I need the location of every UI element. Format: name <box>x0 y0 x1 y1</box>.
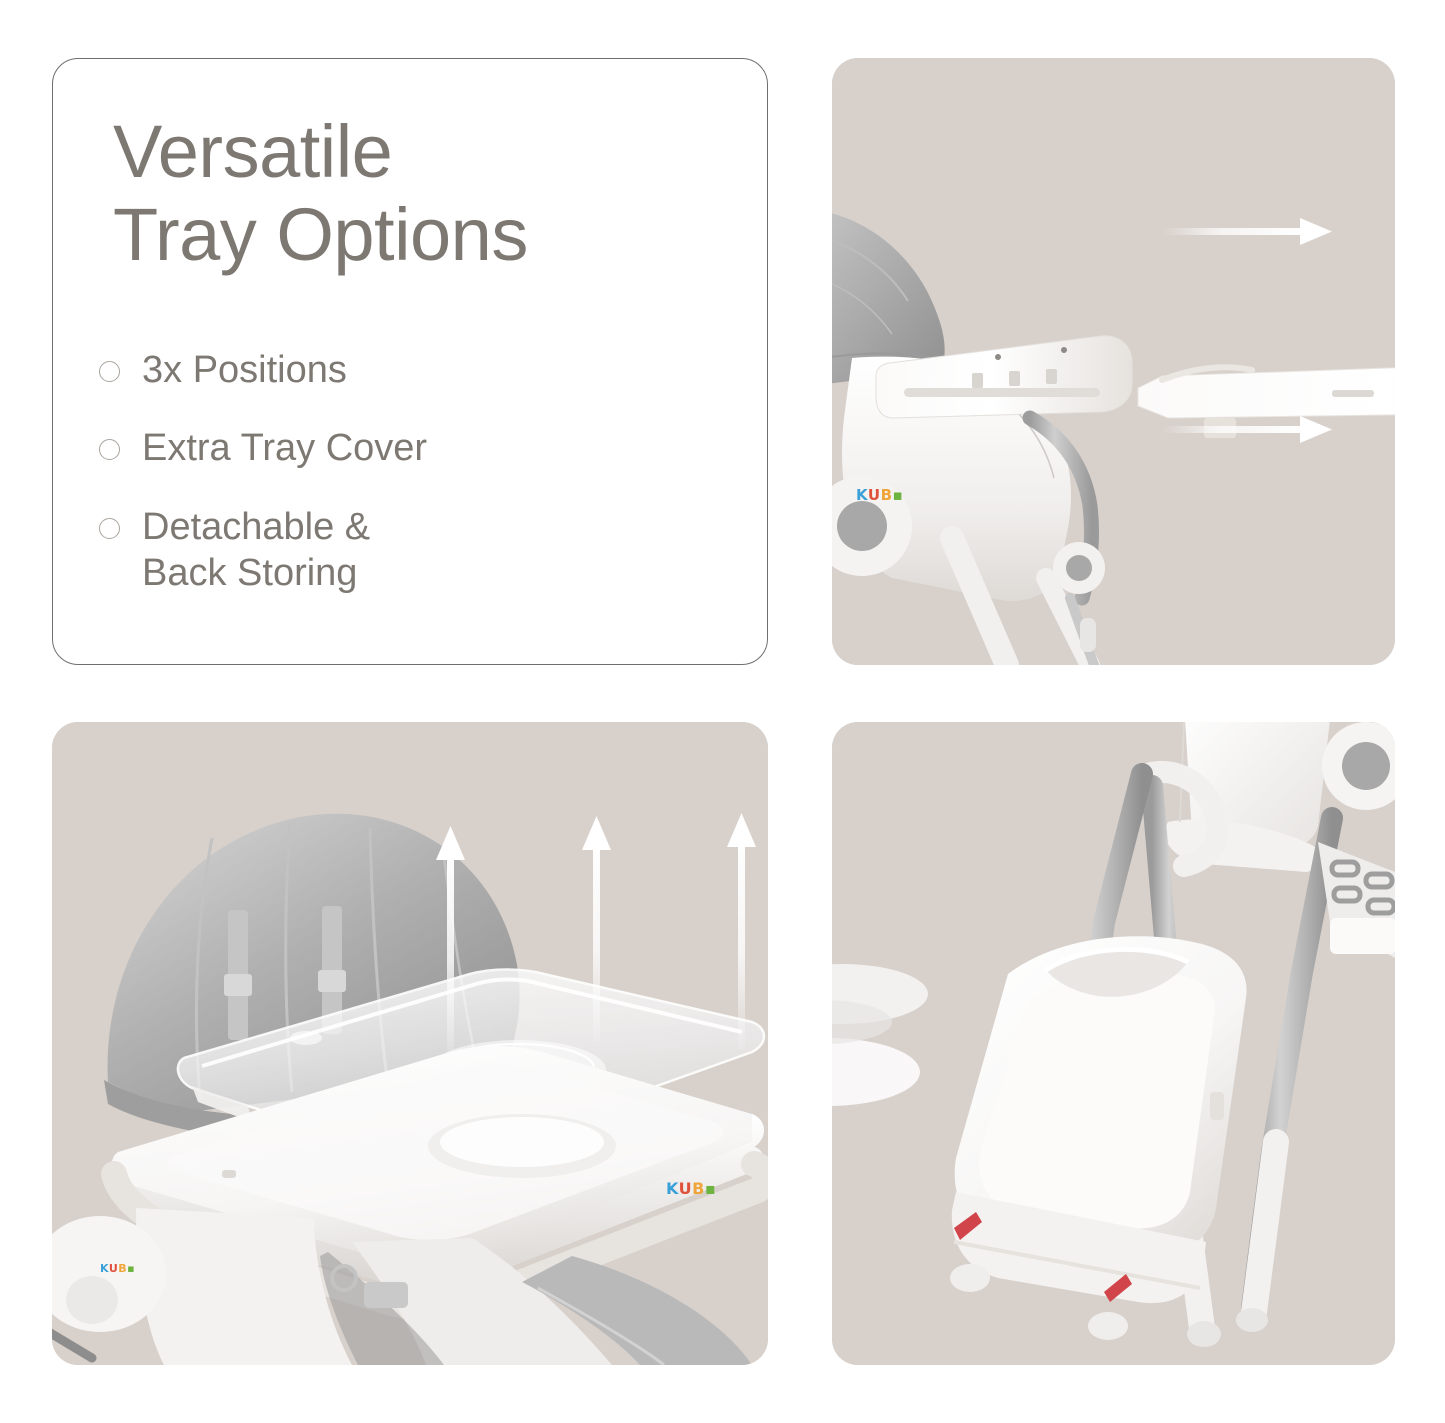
list-item: 3x Positions <box>99 347 749 393</box>
tray-cover-lift-photo: KUB▪ KUB▪ <box>52 722 768 1365</box>
tray-cover-illustration <box>52 722 768 1365</box>
detachable-tray-slide-photo: KUB▪ <box>832 58 1395 665</box>
folded-seat-shell <box>1165 722 1332 872</box>
feature-label: 3x Positions <box>142 347 347 393</box>
list-item: Extra Tray Cover <box>99 425 749 471</box>
kub-brand-logo-secondary: KUB▪ <box>100 1263 135 1274</box>
kub-brand-logo: KUB▪ <box>856 488 903 503</box>
feature-card: Versatile Tray Options 3x Positions Extr… <box>52 58 768 665</box>
folded-chair-illustration <box>832 722 1395 1365</box>
circle-bullet-icon <box>99 361 120 382</box>
kub-brand-logo: KUB▪ <box>666 1181 716 1197</box>
circle-bullet-icon <box>99 518 120 539</box>
feature-label: Detachable & Back Storing <box>142 504 370 597</box>
infographic-page: Versatile Tray Options 3x Positions Extr… <box>0 0 1445 1423</box>
list-item: Detachable & Back Storing <box>99 504 749 597</box>
feature-label: Extra Tray Cover <box>142 425 427 471</box>
feature-list: 3x Positions Extra Tray Cover Detachable… <box>99 347 749 628</box>
circle-bullet-icon <box>99 439 120 460</box>
page-title: Versatile Tray Options <box>113 111 753 277</box>
tray-slide-illustration <box>832 58 1395 665</box>
back-storing-tray-photo <box>832 722 1395 1365</box>
